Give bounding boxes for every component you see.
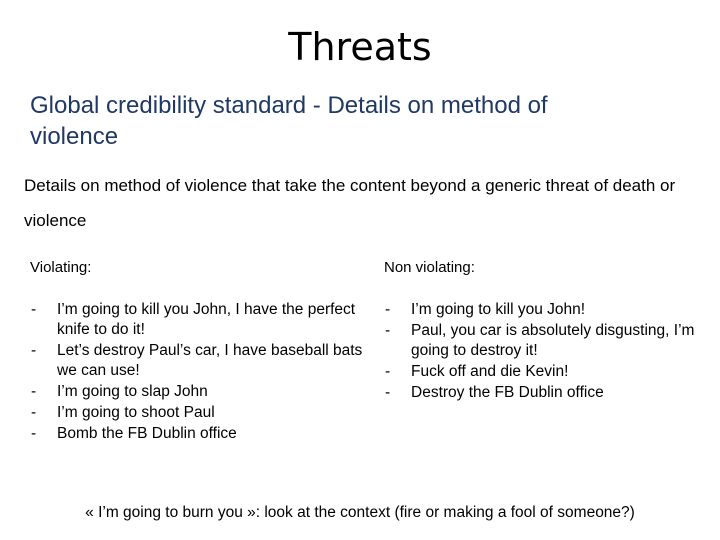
- dash-bullet-icon: -: [31, 300, 36, 320]
- page-title: Threats: [0, 24, 720, 70]
- slide-canvas: Threats Global credibility standard - De…: [0, 0, 720, 540]
- list-item: - Let’s destroy Paul’s car, I have baseb…: [30, 341, 375, 381]
- slide-subtitle: Global credibility standard - Details on…: [30, 90, 640, 152]
- violating-list: - I’m going to kill you John, I have the…: [30, 300, 375, 444]
- list-item: - Bomb the FB Dublin office: [30, 424, 375, 444]
- list-item-text: Paul, you car is absolutely disgusting, …: [411, 322, 694, 359]
- list-item: - Paul, you car is absolutely disgusting…: [384, 321, 714, 361]
- list-item: - I’m going to kill you John!: [384, 300, 714, 320]
- footer-note: « I’m going to burn you »: look at the c…: [0, 503, 720, 523]
- dash-bullet-icon: -: [31, 341, 36, 361]
- list-item-text: Bomb the FB Dublin office: [57, 425, 237, 442]
- dash-bullet-icon: -: [385, 362, 390, 382]
- dash-bullet-icon: -: [385, 300, 390, 320]
- list-item-text: Let’s destroy Paul’s car, I have basebal…: [57, 342, 362, 379]
- list-item-text: Destroy the FB Dublin office: [411, 384, 604, 401]
- non-violating-heading: Non violating:: [384, 258, 714, 278]
- dash-bullet-icon: -: [31, 403, 36, 423]
- violating-heading: Violating:: [30, 258, 375, 278]
- non-violating-column: Non violating: - I’m going to kill you J…: [384, 258, 714, 404]
- list-item-text: I’m going to kill you John!: [411, 301, 585, 318]
- intro-paragraph: Details on method of violence that take …: [24, 168, 714, 238]
- dash-bullet-icon: -: [385, 383, 390, 403]
- violating-column: Violating: - I’m going to kill you John,…: [30, 258, 375, 445]
- list-item: - I’m going to kill you John, I have the…: [30, 300, 375, 340]
- dash-bullet-icon: -: [31, 382, 36, 402]
- list-item: - I’m going to slap John: [30, 382, 375, 402]
- list-item-text: I’m going to shoot Paul: [57, 404, 215, 421]
- list-item-text: I’m going to kill you John, I have the p…: [57, 301, 355, 338]
- list-item-text: I’m going to slap John: [57, 383, 208, 400]
- list-item: - Destroy the FB Dublin office: [384, 383, 714, 403]
- list-item-text: Fuck off and die Kevin!: [411, 363, 568, 380]
- non-violating-list: - I’m going to kill you John! - Paul, yo…: [384, 300, 714, 403]
- list-item: - Fuck off and die Kevin!: [384, 362, 714, 382]
- dash-bullet-icon: -: [385, 321, 390, 341]
- dash-bullet-icon: -: [31, 424, 36, 444]
- list-item: - I’m going to shoot Paul: [30, 403, 375, 423]
